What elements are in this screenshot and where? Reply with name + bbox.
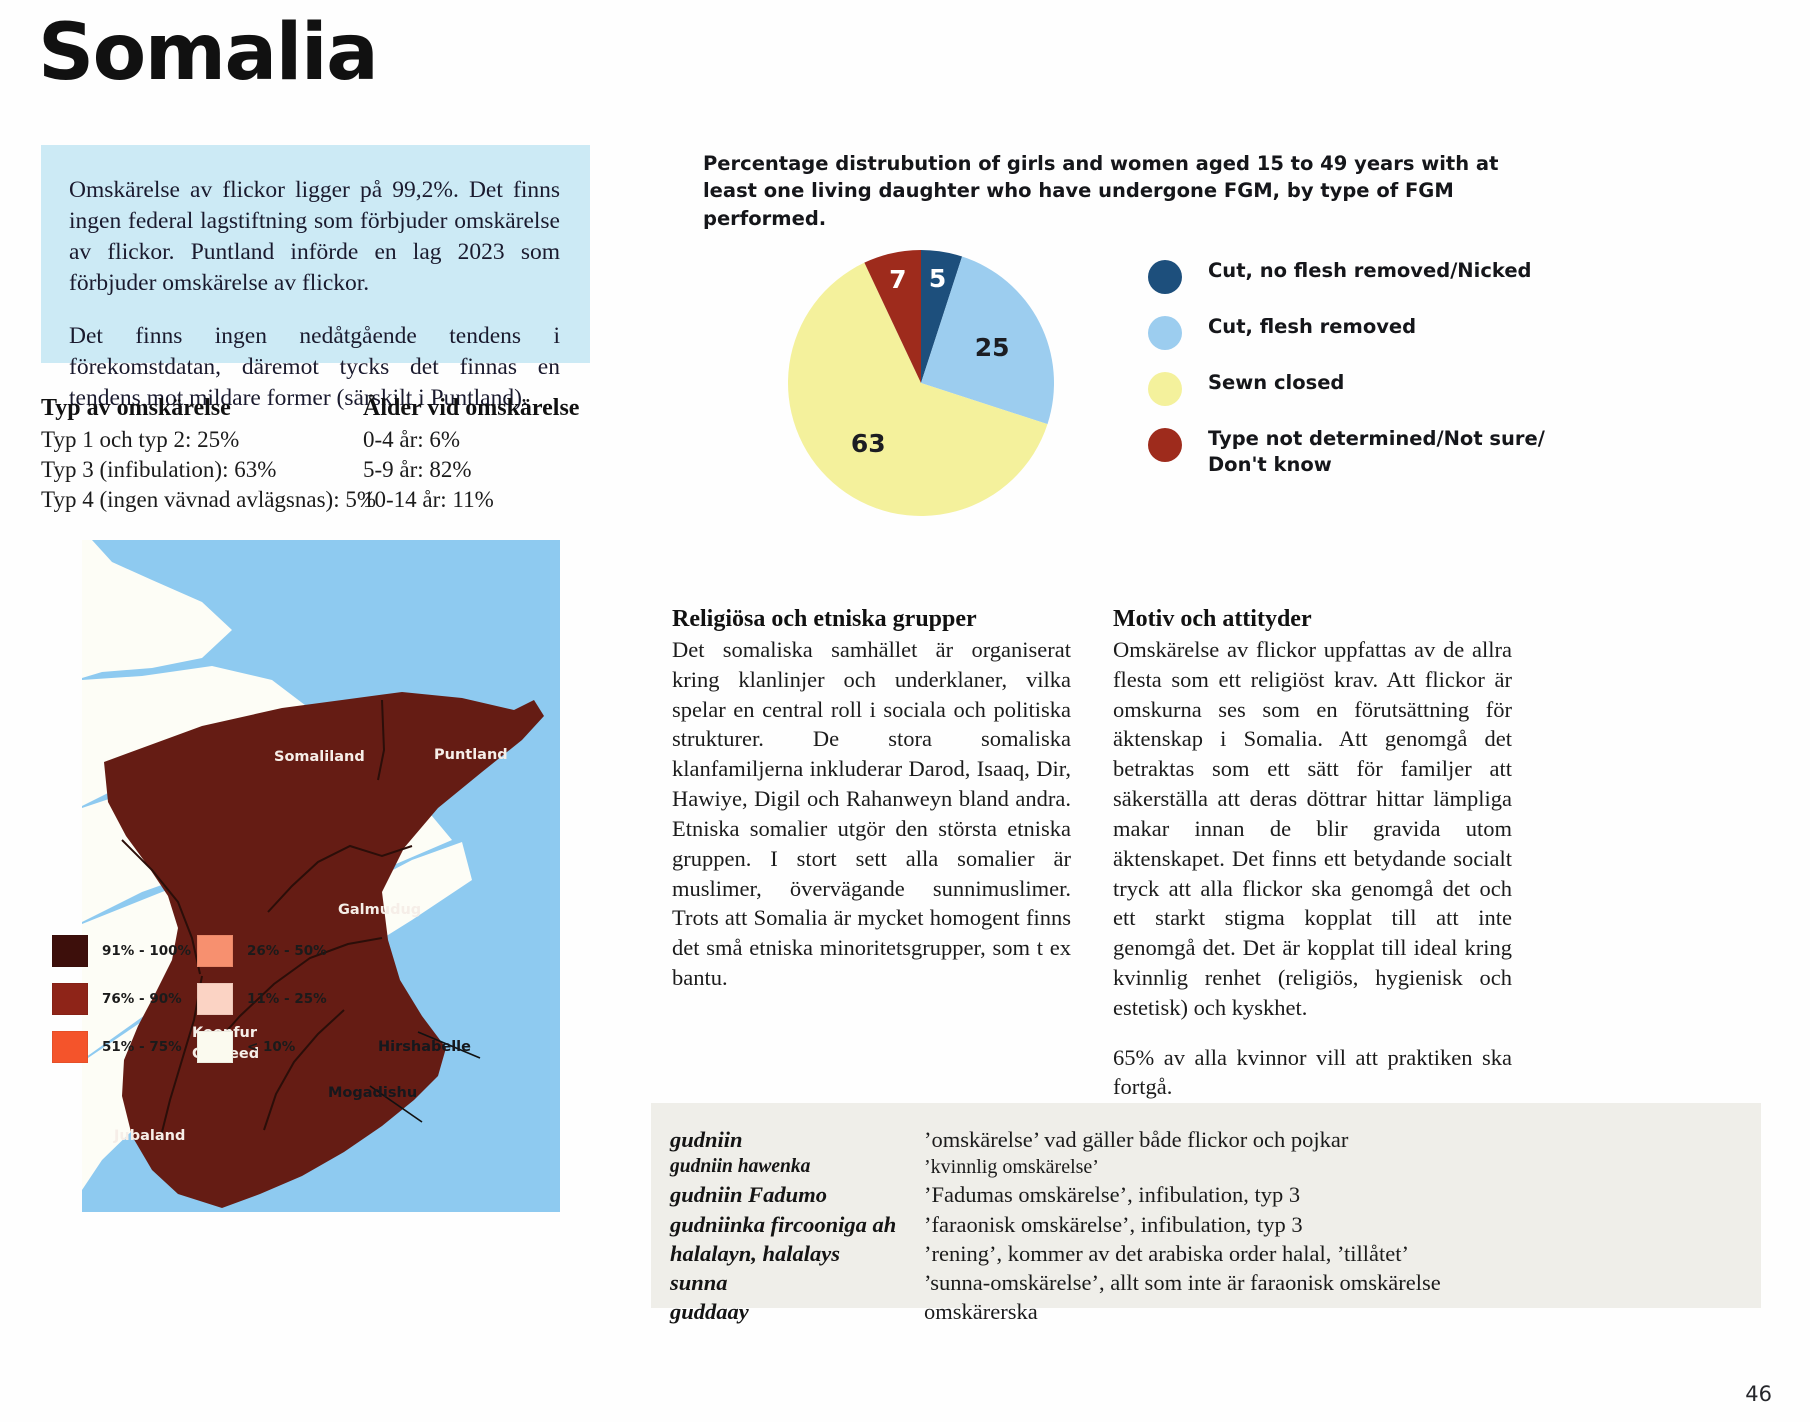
pie-value-label-2: 63	[851, 429, 886, 458]
map-legend-item: 11% - 25%	[197, 983, 342, 1015]
age-heading: Ålder vid omskärelse	[363, 395, 601, 422]
type-of-fgm-column: Typ av omskärelse Typ 1 och typ 2: 25% T…	[41, 395, 363, 515]
chart-legend: Cut, no flesh removed/Nicked Cut, flesh …	[1148, 258, 1545, 482]
column-paragraph: 65% av alla kvinnor vill att praktiken s…	[1113, 1043, 1512, 1103]
glossary-term: halalayn, halalays	[670, 1239, 924, 1268]
glossary-definition: ’rening’, kommer av det arabiska order h…	[924, 1239, 1409, 1268]
glossary-row: guddaay omskärerska	[651, 1297, 1761, 1326]
pie-slices	[788, 250, 1054, 516]
pie-value-label-0: 5	[929, 264, 946, 293]
legend-label: Cut, no flesh removed/Nicked	[1208, 258, 1532, 284]
chart-title: Percentage distrubution of girls and wom…	[703, 150, 1503, 232]
pie-value-label-3: 7	[889, 265, 906, 294]
body-text-columns: Religiösa och etniska grupper Det somali…	[672, 606, 1512, 1102]
type-heading: Typ av omskärelse	[41, 395, 363, 422]
glossary-definition: ’omskärelse’ vad gäller både flickor och…	[924, 1125, 1348, 1154]
page-number: 46	[1745, 1382, 1772, 1406]
type-line: Typ 4 (ingen vävnad avlägsnas): 5%	[41, 485, 363, 515]
column-heading: Motiv och attityder	[1113, 606, 1512, 633]
map-legend-item: 76% - 90%	[52, 983, 197, 1015]
column-religious-ethnic-groups: Religiösa och etniska grupper Det somali…	[672, 606, 1071, 1102]
glossary-row: gudniinka fircooniga ah ’faraonisk omskä…	[651, 1210, 1761, 1239]
glossary-row: gudniin Fadumo ’Fadumas omskärelse’, inf…	[651, 1180, 1761, 1209]
glossary-table: gudniin ’omskärelse’ vad gäller både fli…	[651, 1103, 1761, 1308]
age-line: 5-9 år: 82%	[363, 455, 601, 485]
infobox-paragraph-1: Omskärelse av flickor ligger på 99,2%. D…	[69, 175, 560, 299]
map-label-mogadishu: Mogadishu	[328, 1085, 417, 1101]
glossary-definition: omskärerska	[924, 1297, 1038, 1326]
column-paragraph: Det somaliska samhället är organiserat k…	[672, 635, 1071, 993]
glossary-row: sunna ’sunna-omskärelse’, allt som inte …	[651, 1268, 1761, 1297]
age-line: 10-14 år: 11%	[363, 485, 601, 515]
type-line: Typ 1 och typ 2: 25%	[41, 425, 363, 455]
type-line: Typ 3 (infibulation): 63%	[41, 455, 363, 485]
legend-dot-light-blue	[1148, 316, 1182, 350]
glossary-term: guddaay	[670, 1297, 924, 1326]
glossary-term: gudniinka fircooniga ah	[670, 1210, 924, 1239]
map-legend-label: < 10%	[247, 1039, 295, 1055]
map-legend-label: 11% - 25%	[247, 991, 327, 1007]
map-legend-label: 91% - 100%	[102, 943, 191, 959]
glossary-term: gudniin hawenka	[670, 1154, 924, 1180]
glossary-definition: ’sunna-omskärelse’, allt som inte är far…	[924, 1268, 1441, 1297]
legend-label: Type not determined/Not sure/ Don't know	[1208, 426, 1545, 478]
glossary-term: gudniin Fadumo	[670, 1180, 924, 1209]
map-legend: 91% - 100% 26% - 50% 76% - 90% 11% - 25%…	[52, 935, 362, 1063]
map-label-somaliland: Somaliland	[274, 749, 365, 765]
page-title: Somalia	[38, 8, 377, 98]
age-at-fgm-column: Ålder vid omskärelse 0-4 år: 6% 5-9 år: …	[363, 395, 601, 515]
glossary-definition: ’faraonisk omskärelse’, infibulation, ty…	[924, 1210, 1303, 1239]
document-page: Somalia Omskärelse av flickor ligger på …	[0, 0, 1810, 1422]
legend-item-cut-flesh-removed: Cut, flesh removed	[1148, 314, 1545, 370]
glossary-definition: ’kvinnlig omskärelse’	[924, 1154, 1099, 1180]
glossary-term: sunna	[670, 1268, 924, 1297]
pie-svg: 525637	[776, 228, 1066, 528]
legend-label: Sewn closed	[1208, 370, 1344, 396]
summary-infobox: Omskärelse av flickor ligger på 99,2%. D…	[41, 145, 590, 363]
map-legend-swatch-76-90	[52, 983, 88, 1015]
glossary-row: halalayn, halalays ’rening’, kommer av d…	[651, 1239, 1761, 1268]
map-label-puntland: Puntland	[434, 747, 508, 763]
map-legend-swatch-91-100	[52, 935, 88, 967]
column-paragraph: Omskärelse av flickor uppfattas av de al…	[1113, 635, 1512, 1023]
map-legend-item: < 10%	[197, 1031, 342, 1063]
map-legend-item: 91% - 100%	[52, 935, 197, 967]
map-legend-item: 51% - 75%	[52, 1031, 197, 1063]
map-legend-swatch-under-10	[197, 1031, 233, 1063]
glossary-row: gudniin ’omskärelse’ vad gäller både fli…	[651, 1125, 1761, 1154]
legend-dot-yellow	[1148, 372, 1182, 406]
map-legend-label: 76% - 90%	[102, 991, 182, 1007]
glossary-term: gudniin	[670, 1125, 924, 1154]
map-label-jubaland: Jubaland	[113, 1128, 185, 1144]
pie-value-label-1: 25	[975, 333, 1010, 362]
legend-item-cut-no-flesh-removed: Cut, no flesh removed/Nicked	[1148, 258, 1545, 314]
map-legend-swatch-51-75	[52, 1031, 88, 1063]
legend-item-type-not-determined: Type not determined/Not sure/ Don't know	[1148, 426, 1545, 482]
legend-dot-dark-red	[1148, 428, 1182, 462]
legend-item-sewn-closed: Sewn closed	[1148, 370, 1545, 426]
column-motives-attitudes: Motiv och attityder Omskärelse av flicko…	[1113, 606, 1512, 1102]
map-legend-label: 26% - 50%	[247, 943, 327, 959]
map-label-galmudug: Galmudug	[338, 902, 421, 918]
column-heading: Religiösa och etniska grupper	[672, 606, 1071, 633]
map-svg: Somaliland Puntland Galmudug Koonfur Gal…	[82, 540, 560, 1212]
glossary-row: gudniin hawenka ’kvinnlig omskärelse’	[651, 1154, 1761, 1180]
statistics-block: Typ av omskärelse Typ 1 och typ 2: 25% T…	[41, 395, 601, 515]
fgm-type-pie-chart: 525637	[776, 228, 1066, 533]
map-legend-label: 51% - 75%	[102, 1039, 182, 1055]
map-legend-item: 26% - 50%	[197, 935, 342, 967]
somalia-prevalence-map: Somaliland Puntland Galmudug Koonfur Gal…	[82, 540, 560, 1212]
map-legend-swatch-26-50	[197, 935, 233, 967]
map-label-hirshabelle: Hirshabelle	[378, 1039, 471, 1055]
legend-label: Cut, flesh removed	[1208, 314, 1416, 340]
age-line: 0-4 år: 6%	[363, 425, 601, 455]
glossary-definition: ’Fadumas omskärelse’, infibulation, typ …	[924, 1180, 1300, 1209]
legend-dot-navy	[1148, 260, 1182, 294]
map-legend-swatch-11-25	[197, 983, 233, 1015]
